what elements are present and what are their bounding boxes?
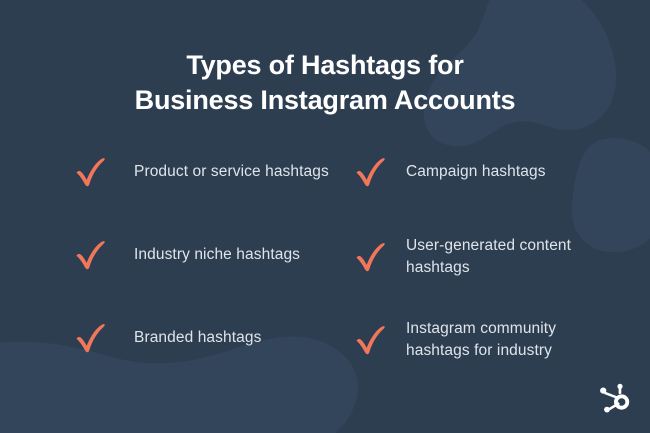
check-icon (72, 152, 112, 192)
title-line-2: Business Instagram Accounts (0, 83, 650, 118)
logo-node-bottom-left (604, 407, 610, 413)
check-icon (72, 318, 112, 358)
list-item-label: Branded hashtags (112, 327, 347, 349)
list-item: Industry niche hashtags (72, 235, 347, 275)
infographic-canvas: Types of Hashtags for Business Instagram… (0, 0, 650, 433)
check-icon (352, 237, 392, 277)
check-icon (352, 320, 392, 360)
list-item-label: Instagram community hashtags for industr… (392, 318, 622, 362)
list-item: Instagram community hashtags for industr… (352, 318, 622, 362)
list-item-label: Industry niche hashtags (112, 244, 347, 266)
list-item: Campaign hashtags (352, 152, 622, 192)
list-item-label: User-generated content hashtags (392, 235, 622, 279)
check-icon (352, 152, 392, 192)
list-item-label: Campaign hashtags (392, 161, 622, 183)
check-icon (72, 235, 112, 275)
checklist: Product or service hashtags Industry nic… (0, 150, 650, 380)
logo-node-top-right (617, 384, 622, 389)
checklist-column-left: Product or service hashtags Industry nic… (72, 150, 347, 380)
list-item: Branded hashtags (72, 318, 347, 358)
list-item-label: Product or service hashtags (112, 161, 347, 183)
page-title: Types of Hashtags for Business Instagram… (0, 48, 650, 118)
list-item: Product or service hashtags (72, 152, 347, 192)
list-item: User-generated content hashtags (352, 235, 622, 279)
hubspot-sprocket-logo (598, 383, 632, 417)
checklist-column-right: Campaign hashtags User-generated content… (352, 150, 622, 380)
logo-hub-ring (614, 394, 629, 409)
title-line-1: Types of Hashtags for (0, 48, 650, 83)
